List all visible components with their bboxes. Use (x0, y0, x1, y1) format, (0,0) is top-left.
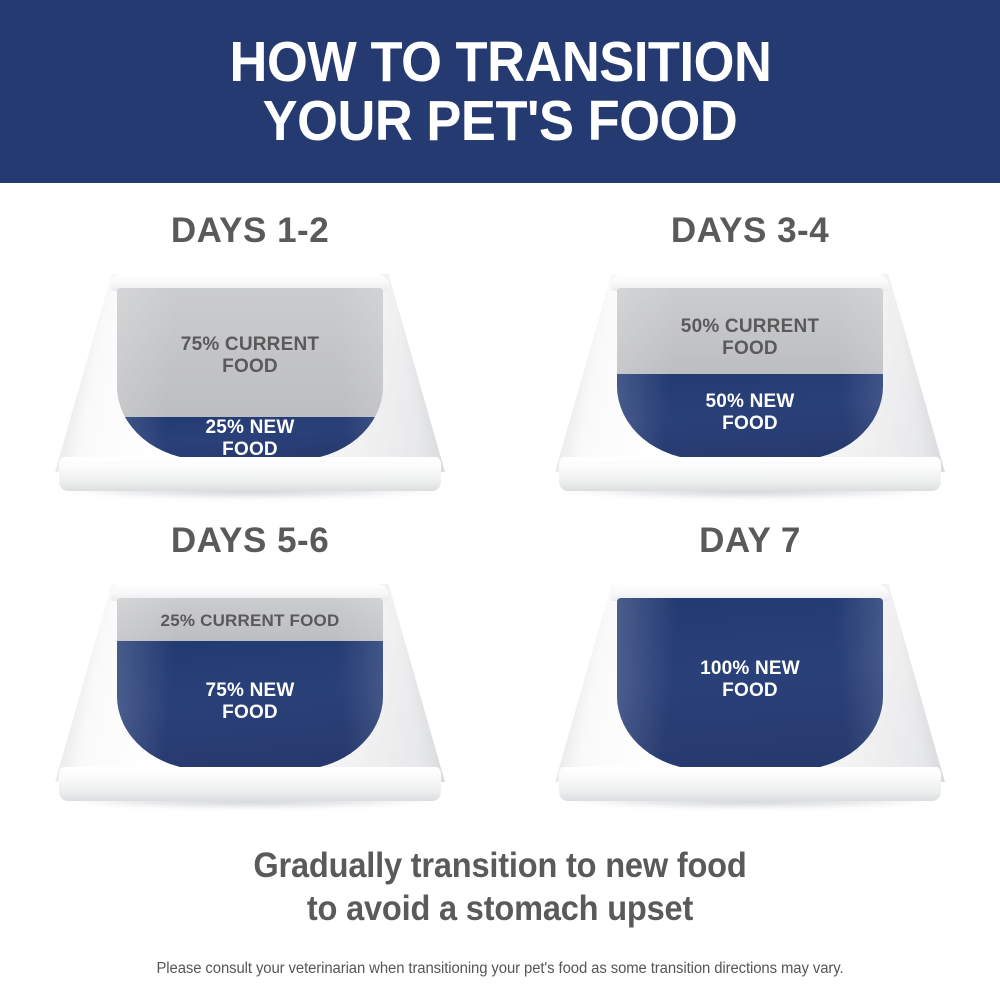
tagline-line2: to avoid a stomach upset (35, 888, 965, 931)
step-1-day-label: DAYS 1-2 (0, 208, 500, 254)
infographic-page: HOW TO TRANSITION YOUR PET'S FOOD DAYS 1… (0, 0, 1000, 1000)
step-4-bowl: 100% NEW FOOD (555, 576, 945, 811)
bowl-food-basin: 75% CURRENT FOOD 25% NEW FOOD (117, 288, 383, 460)
transition-step-1: DAYS 1-2 75% CURRENT FOOD 25% NEW FOOD (0, 208, 500, 528)
bowl-base-pedestal (59, 767, 441, 801)
step-4-day-label: DAY 7 (500, 518, 1000, 564)
bowl-base-pedestal (59, 457, 441, 491)
transition-steps-grid: DAYS 1-2 75% CURRENT FOOD 25% NEW FOOD (0, 183, 1000, 823)
step-2-current-food-label: 50% CURRENT FOOD (617, 316, 883, 360)
transition-step-3: DAYS 5-6 25% CURRENT FOOD 75% NEW FOOD (0, 518, 500, 838)
step-2-new-food-label: 50% NEW FOOD (617, 391, 883, 435)
header-banner: HOW TO TRANSITION YOUR PET'S FOOD (0, 0, 1000, 183)
step-4-new-food-label: 100% NEW FOOD (617, 658, 883, 702)
header-title-line1: HOW TO TRANSITION (229, 33, 771, 91)
transition-step-4: DAY 7 100% NEW FOOD (500, 518, 1000, 838)
step-3-day-label: DAYS 5-6 (0, 518, 500, 564)
bowl-food-basin: 50% CURRENT FOOD 50% NEW FOOD (617, 288, 883, 460)
bowl-food-basin: 100% NEW FOOD (617, 598, 883, 770)
footer-section: Gradually transition to new food to avoi… (0, 845, 1000, 978)
disclaimer-text: Please consult your veterinarian when tr… (20, 960, 980, 978)
step-1-bowl: 75% CURRENT FOOD 25% NEW FOOD (55, 266, 445, 501)
step-1-current-food-label: 75% CURRENT FOOD (117, 334, 383, 378)
step-2-bowl: 50% CURRENT FOOD 50% NEW FOOD (555, 266, 945, 501)
bowl-base-pedestal (559, 767, 941, 801)
bowl-food-basin: 25% CURRENT FOOD 75% NEW FOOD (117, 598, 383, 770)
step-3-current-food-label: 25% CURRENT FOOD (117, 611, 383, 631)
tagline-line1: Gradually transition to new food (35, 845, 965, 888)
transition-step-2: DAYS 3-4 50% CURRENT FOOD 50% NEW FOOD (500, 208, 1000, 528)
step-3-bowl: 25% CURRENT FOOD 75% NEW FOOD (55, 576, 445, 811)
step-3-new-food-label: 75% NEW FOOD (117, 680, 383, 724)
step-2-day-label: DAYS 3-4 (500, 208, 1000, 254)
bowl-base-pedestal (559, 457, 941, 491)
step-1-new-food-label: 25% NEW FOOD (117, 417, 383, 460)
header-title-line2: YOUR PET'S FOOD (263, 92, 738, 150)
